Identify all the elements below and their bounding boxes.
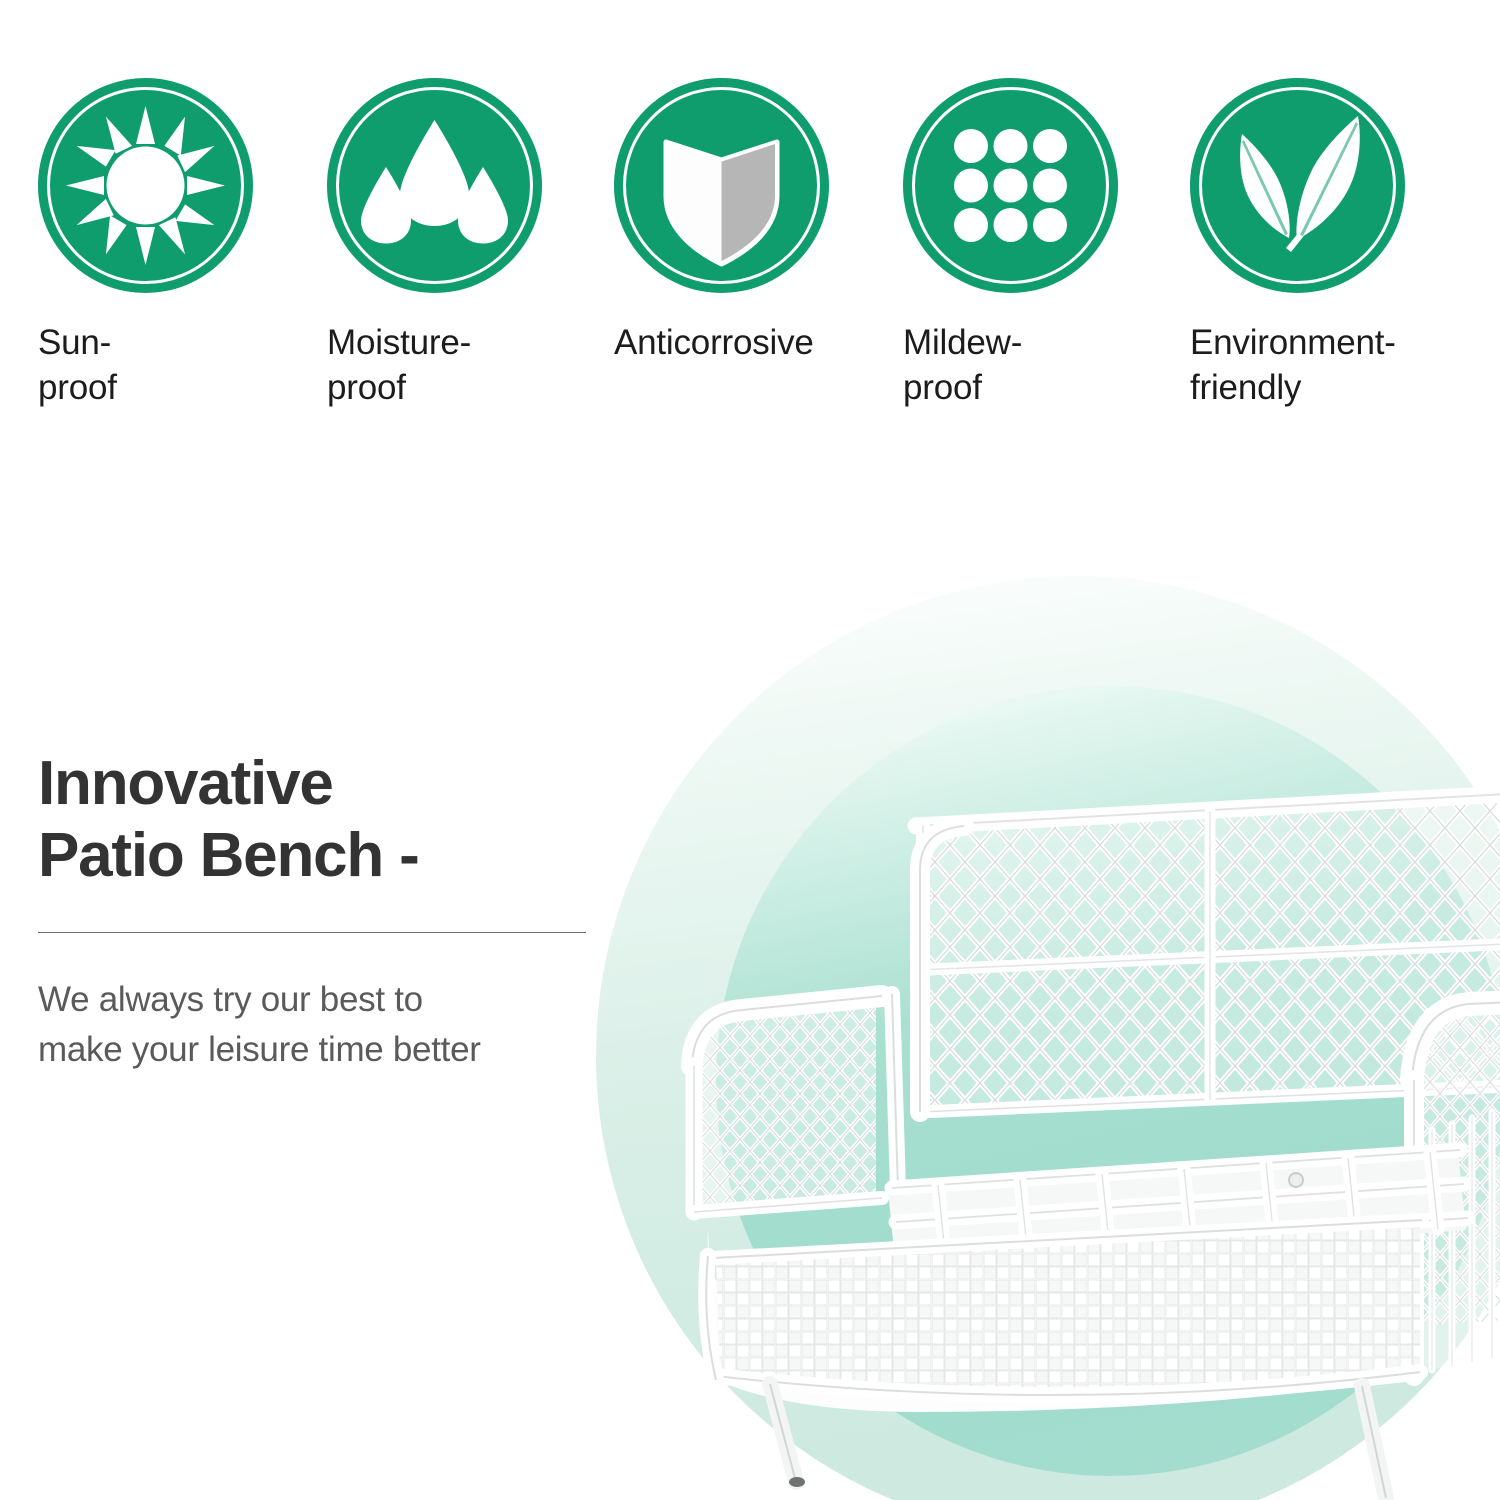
bench-illustration [620,760,1500,1500]
tagline: We always try our best to make your leis… [38,975,598,1074]
marketing-copy-block: Innovative Patio Bench - We always try o… [38,748,598,1074]
product-image-wicker-bench [620,760,1500,1500]
bench-left-arm [684,990,898,1230]
divider [38,932,586,933]
bench-front-skirt [706,1220,1422,1412]
page-title: Innovative Patio Bench - [38,748,598,892]
